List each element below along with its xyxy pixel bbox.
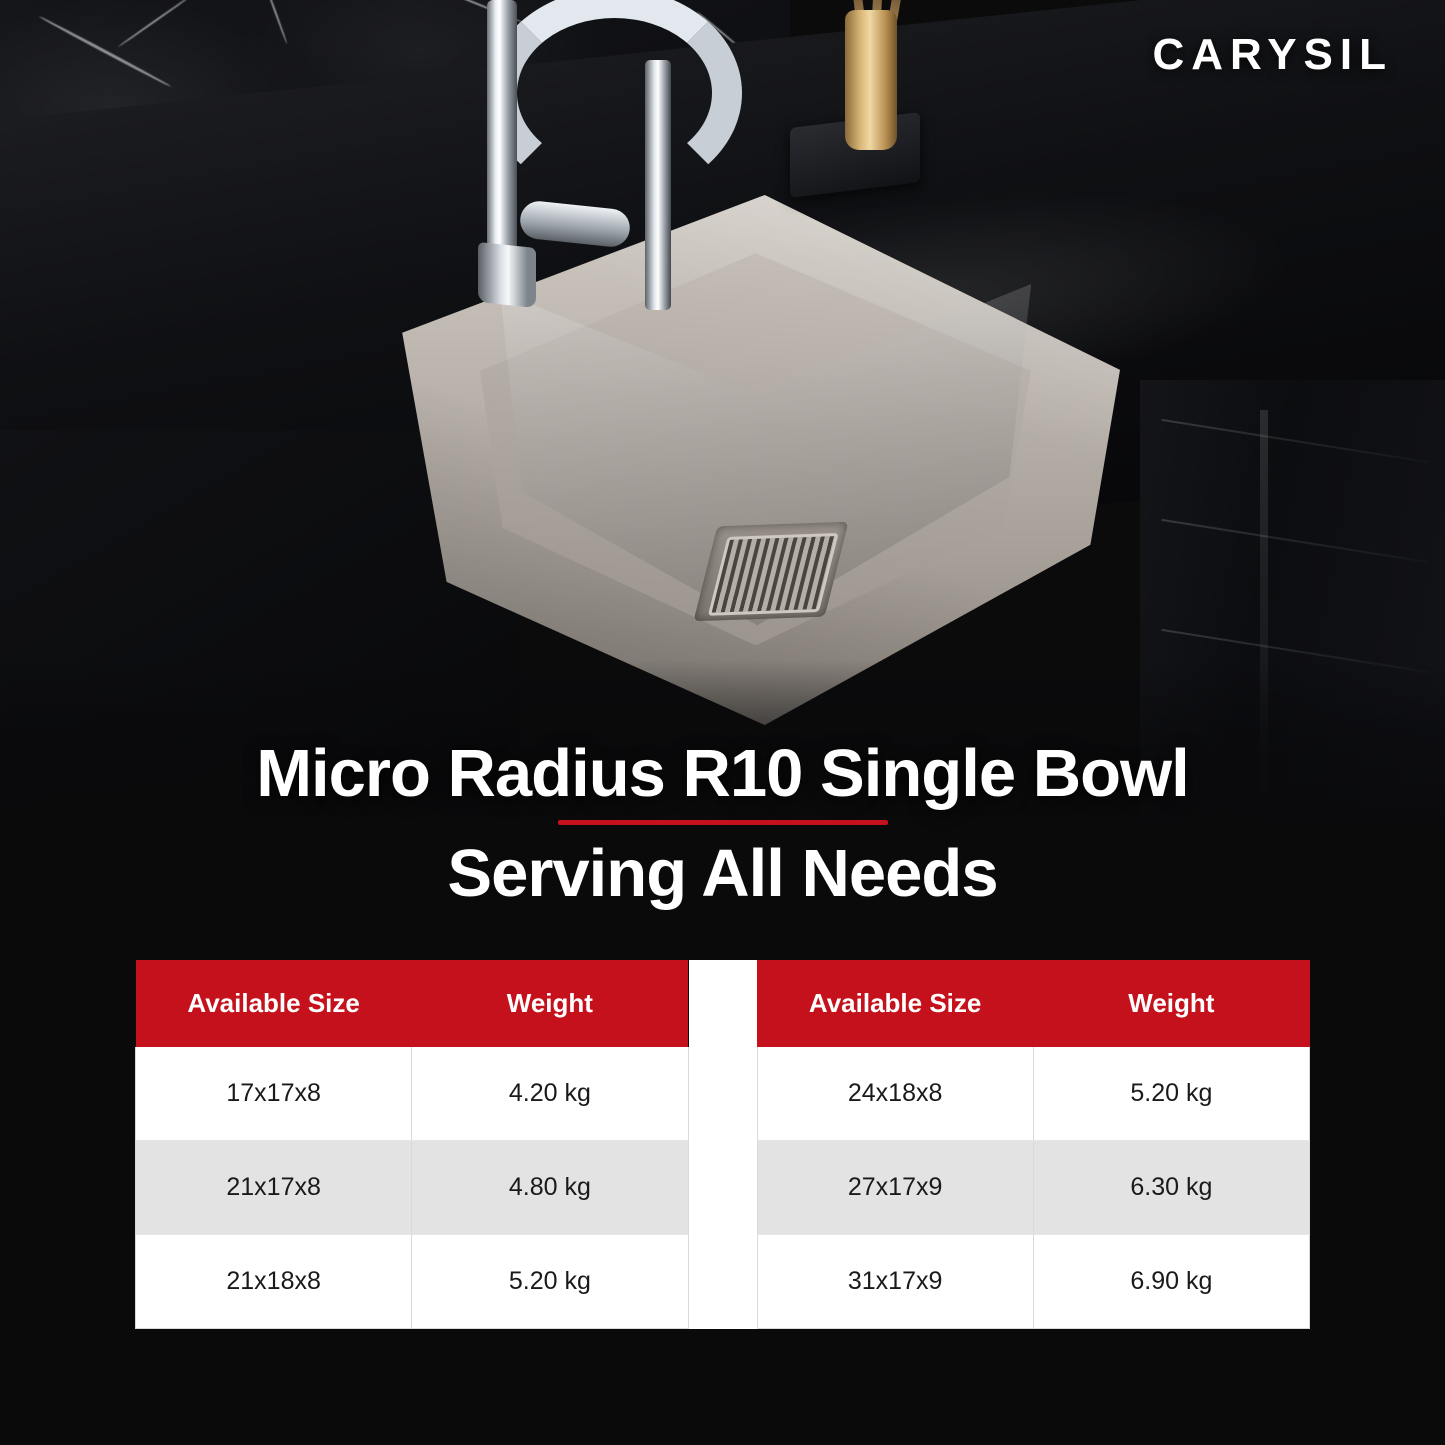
faucet-spout (645, 60, 671, 310)
table-row: 17x17x8 4.20 kg (136, 1047, 689, 1141)
table-header-row: Available Size Weight (757, 960, 1310, 1047)
page-subtitle: Serving All Needs (0, 835, 1445, 912)
cell-weight: 4.80 kg (412, 1141, 688, 1235)
cell-weight: 4.20 kg (412, 1047, 688, 1141)
table-row: 27x17x9 6.30 kg (757, 1141, 1310, 1235)
wooden-utensil-jar (845, 10, 897, 150)
column-header-weight: Weight (412, 960, 688, 1047)
cell-size: 27x17x9 (757, 1141, 1033, 1235)
cell-weight: 5.20 kg (1033, 1047, 1309, 1141)
specs-table-right: Available Size Weight 24x18x8 5.20 kg 27… (757, 960, 1311, 1329)
cell-weight: 6.90 kg (1033, 1235, 1309, 1329)
drain-assembly (693, 521, 848, 620)
table-header-row: Available Size Weight (136, 960, 689, 1047)
table-row: 31x17x9 6.90 kg (757, 1235, 1310, 1329)
table-divider-gap (689, 960, 757, 1329)
title-accent-rule (558, 820, 888, 825)
column-header-size: Available Size (136, 960, 412, 1047)
table-row: 21x18x8 5.20 kg (136, 1235, 689, 1329)
cell-size: 17x17x8 (136, 1047, 412, 1141)
specs-table-left: Available Size Weight 17x17x8 4.20 kg 21… (135, 960, 689, 1329)
specs-tables: Available Size Weight 17x17x8 4.20 kg 21… (135, 960, 1310, 1329)
cell-weight: 5.20 kg (412, 1235, 688, 1329)
cell-weight: 6.30 kg (1033, 1141, 1309, 1235)
drain-grate-icon (708, 533, 839, 615)
specs-table-left-wrap: Available Size Weight 17x17x8 4.20 kg 21… (135, 960, 689, 1329)
cell-size: 21x18x8 (136, 1235, 412, 1329)
page-title: Micro Radius R10 Single Bowl (0, 735, 1445, 812)
column-header-size: Available Size (757, 960, 1033, 1047)
brand-logo: CARYSIL (1153, 30, 1394, 80)
product-info-graphic: CARYSIL Micro Radius R10 Single Bowl Ser… (0, 0, 1445, 1445)
specs-table-right-wrap: Available Size Weight 24x18x8 5.20 kg 27… (757, 960, 1311, 1329)
column-header-weight: Weight (1033, 960, 1309, 1047)
cell-size: 21x17x8 (136, 1141, 412, 1235)
hero-photo (0, 0, 1445, 830)
faucet-base (478, 242, 536, 308)
table-row: 24x18x8 5.20 kg (757, 1047, 1310, 1141)
table-row: 21x17x8 4.80 kg (136, 1141, 689, 1235)
cell-size: 24x18x8 (757, 1047, 1033, 1141)
title-block: Micro Radius R10 Single Bowl Serving All… (0, 735, 1445, 912)
cell-size: 31x17x9 (757, 1235, 1033, 1329)
